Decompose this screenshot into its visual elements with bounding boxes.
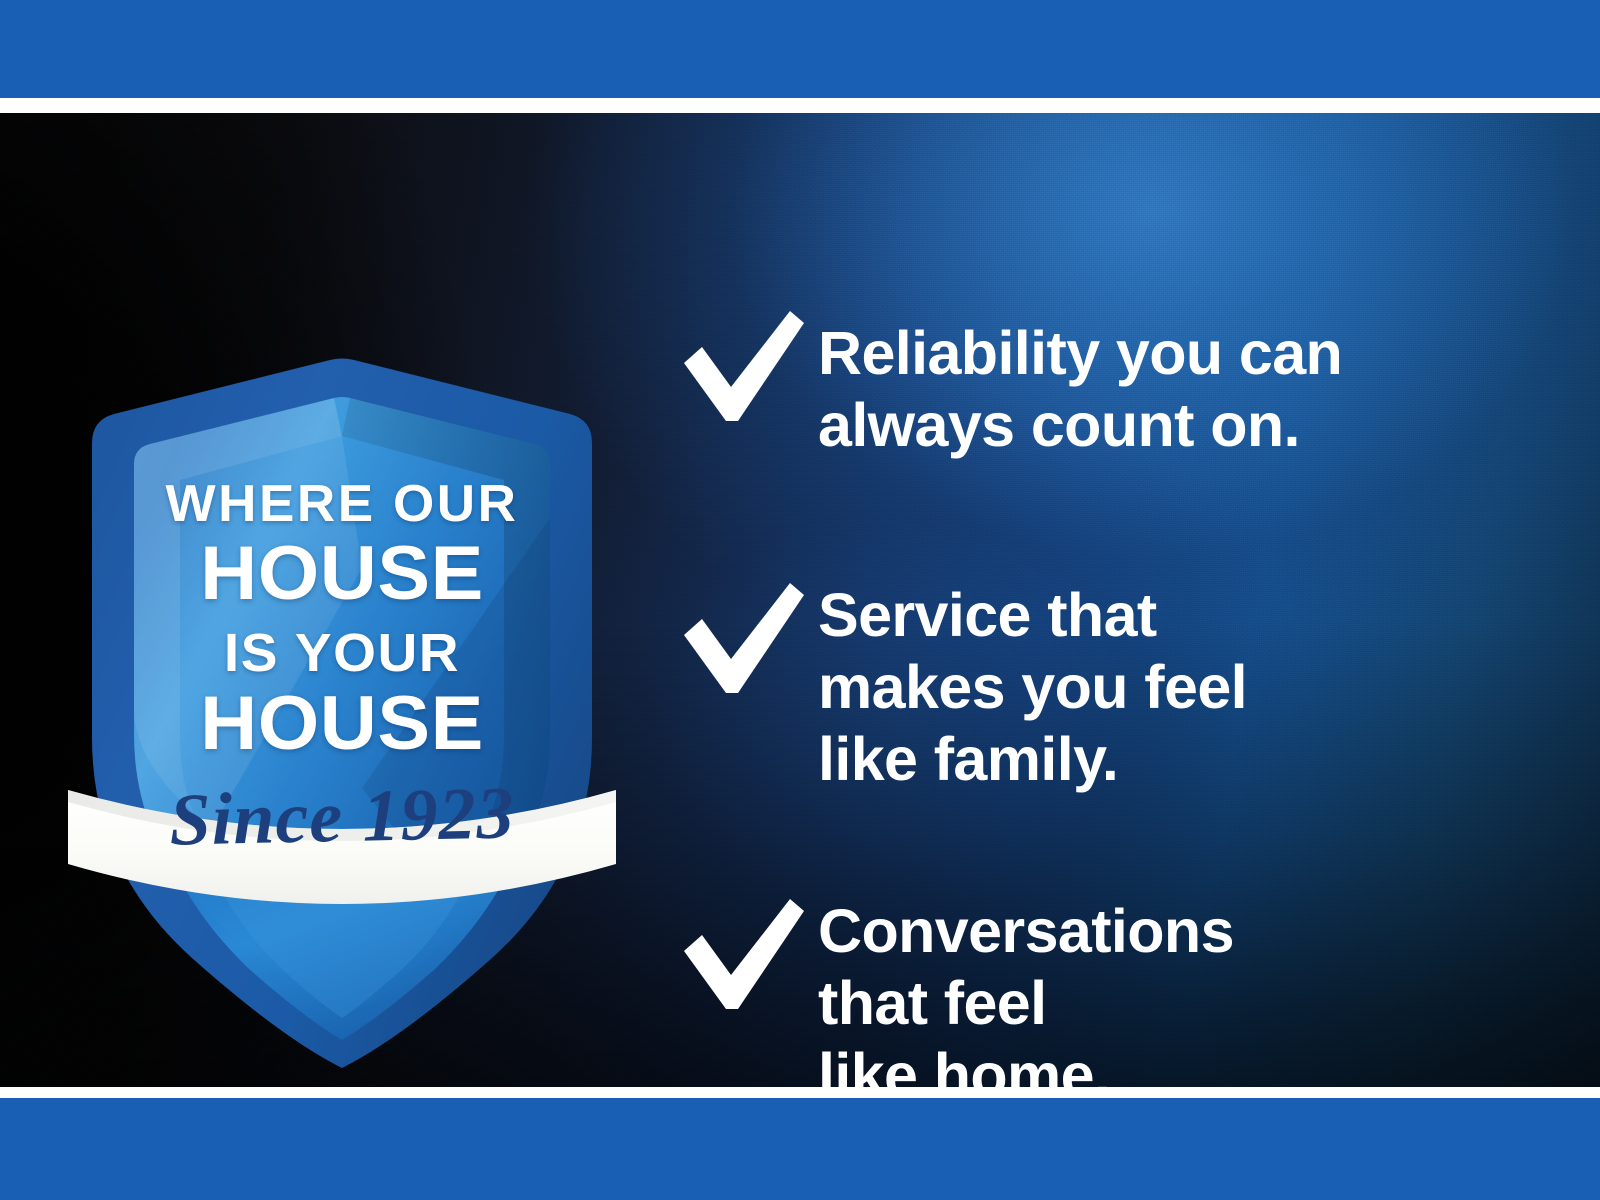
main-panel: WHERE OUR HOUSE IS YOUR HOUSE Since 1923… — [0, 113, 1600, 1087]
top-brand-bar — [0, 0, 1600, 98]
shield-badge: WHERE OUR HOUSE IS YOUR HOUSE Since 1923 — [62, 268, 622, 1078]
bottom-brand-bar — [0, 1098, 1600, 1200]
benefit-2-line-1: Service that — [818, 579, 1247, 651]
checkmark-icon — [668, 575, 818, 705]
checkmark-icon — [668, 303, 818, 433]
promo-graphic: WHERE OUR HOUSE IS YOUR HOUSE Since 1923… — [0, 0, 1600, 1200]
benefit-3-line-2: that feel — [818, 967, 1234, 1039]
benefit-item-3: Conversations that feel like home. — [668, 891, 1234, 1087]
benefit-3-line-1: Conversations — [818, 895, 1234, 967]
benefit-text-2: Service that makes you feel like family. — [818, 575, 1247, 795]
benefit-text-3: Conversations that feel like home. — [818, 891, 1234, 1087]
benefit-1-line-1: Reliability you can — [818, 317, 1342, 389]
benefit-2-line-2: makes you feel — [818, 651, 1247, 723]
benefit-2-line-3: like family. — [818, 723, 1247, 795]
benefit-text-1: Reliability you can always count on. — [818, 303, 1342, 461]
benefit-item-1: Reliability you can always count on. — [668, 303, 1342, 461]
benefit-1-line-2: always count on. — [818, 389, 1342, 461]
benefit-3-line-3: like home. — [818, 1039, 1234, 1087]
benefit-item-2: Service that makes you feel like family. — [668, 575, 1247, 795]
checkmark-icon — [668, 891, 818, 1021]
